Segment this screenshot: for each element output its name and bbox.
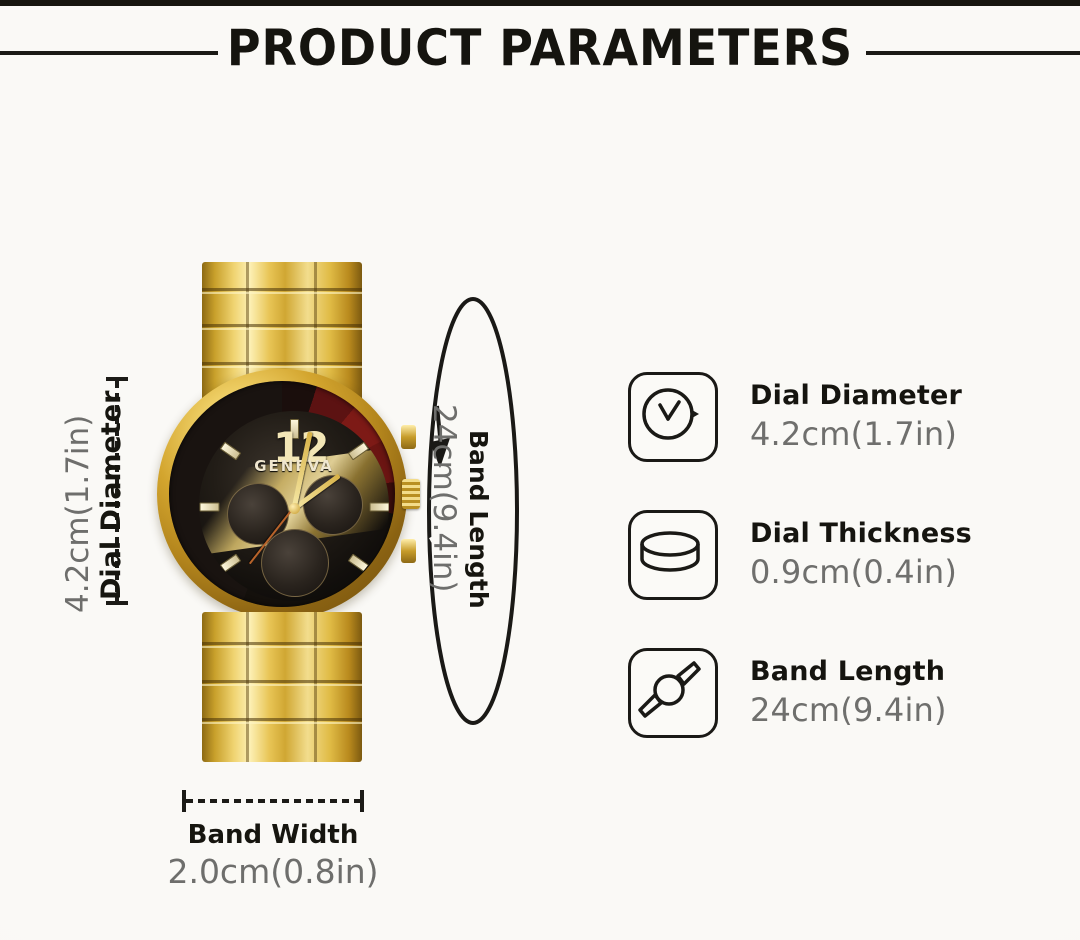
- hour-marker: [200, 503, 220, 512]
- bracelet-link-edge: [202, 288, 362, 291]
- chronograph-pusher-bottom: [401, 539, 416, 563]
- bracelet-seam: [246, 612, 249, 762]
- chronograph-pusher-top: [401, 425, 416, 449]
- spec-value: 24cm(9.4in): [750, 689, 947, 731]
- spec-row-band-length: Band Length 24cm(9.4in): [628, 624, 1048, 762]
- bracelet-link-highlight: [202, 646, 362, 648]
- band-length-callout-label: Band Length: [464, 430, 493, 609]
- spec-row-dial-diameter: Dial Diameter 4.2cm(1.7in): [628, 348, 1048, 486]
- watch-strap-icon: [628, 648, 718, 738]
- bracelet-link-highlight: [202, 292, 362, 294]
- product-parameters-infographic: PRODUCT PARAMETERS Dial Diameter 4.2cm(1…: [0, 0, 1080, 940]
- spec-value: 4.2cm(1.7in): [750, 413, 962, 455]
- spec-text-block: Band Length 24cm(9.4in): [750, 655, 947, 731]
- subdial-right: [303, 475, 363, 535]
- bracelet-link-highlight: [202, 328, 362, 330]
- dial-diameter-callout-value: 4.2cm(1.7in): [60, 415, 96, 613]
- bracelet-seam: [314, 612, 317, 762]
- spec-label: Dial Thickness: [750, 517, 972, 551]
- spec-text-block: Dial Thickness 0.9cm(0.4in): [750, 517, 972, 593]
- watch-case: 12 GENEVA: [157, 369, 407, 619]
- specification-list: Dial Diameter 4.2cm(1.7in) Dial Thicknes…: [628, 348, 1048, 762]
- watch-crown: [402, 479, 420, 509]
- bracelet-link-edge: [202, 324, 362, 327]
- hour-marker: [220, 554, 242, 573]
- spec-row-dial-thickness: Dial Thickness 0.9cm(0.4in): [628, 486, 1048, 624]
- cylinder-thickness-icon: [628, 510, 718, 600]
- hour-marker: [370, 503, 390, 512]
- header: PRODUCT PARAMETERS: [0, 6, 1080, 92]
- watch-dial-icon: [628, 372, 718, 462]
- spec-value: 0.9cm(0.4in): [750, 551, 972, 593]
- bracelet-link-edge: [202, 362, 362, 365]
- spec-text-block: Dial Diameter 4.2cm(1.7in): [750, 379, 962, 455]
- bracelet-link-highlight: [202, 366, 362, 368]
- dimension-cap-right: [360, 790, 364, 812]
- bracelet-link-highlight: [202, 722, 362, 724]
- hands-pivot: [289, 503, 300, 514]
- dimension-dashes: [186, 799, 360, 803]
- watch-bezel: 12 GENEVA: [169, 381, 395, 607]
- watch-product-image: 12 GENEVA: [150, 262, 420, 762]
- dial-brand-text: GENEVA: [199, 457, 389, 475]
- bracelet-link-highlight: [202, 684, 362, 686]
- band-width-callout-label: Band Width: [182, 820, 364, 850]
- hour-marker: [348, 554, 370, 573]
- dimension-cap-bottom: [106, 601, 128, 605]
- bracelet-link-edge: [202, 680, 362, 683]
- bracelet-link-edge: [202, 642, 362, 645]
- spec-label: Band Length: [750, 655, 947, 689]
- band-width-callout-value: 2.0cm(0.8in): [162, 852, 384, 891]
- spec-label: Dial Diameter: [750, 379, 962, 413]
- band-length-callout-value: 24cm(9.4in): [426, 404, 462, 592]
- bracelet-lower: [202, 612, 362, 762]
- bracelet-link-edge: [202, 718, 362, 721]
- subdial-bottom: [261, 529, 329, 597]
- page-title: PRODUCT PARAMETERS: [43, 18, 1037, 78]
- dial-diameter-callout-label: Dial Diameter: [96, 391, 127, 600]
- band-width-dimension-line: [182, 790, 364, 812]
- watch-dial: 12 GENEVA: [199, 411, 389, 601]
